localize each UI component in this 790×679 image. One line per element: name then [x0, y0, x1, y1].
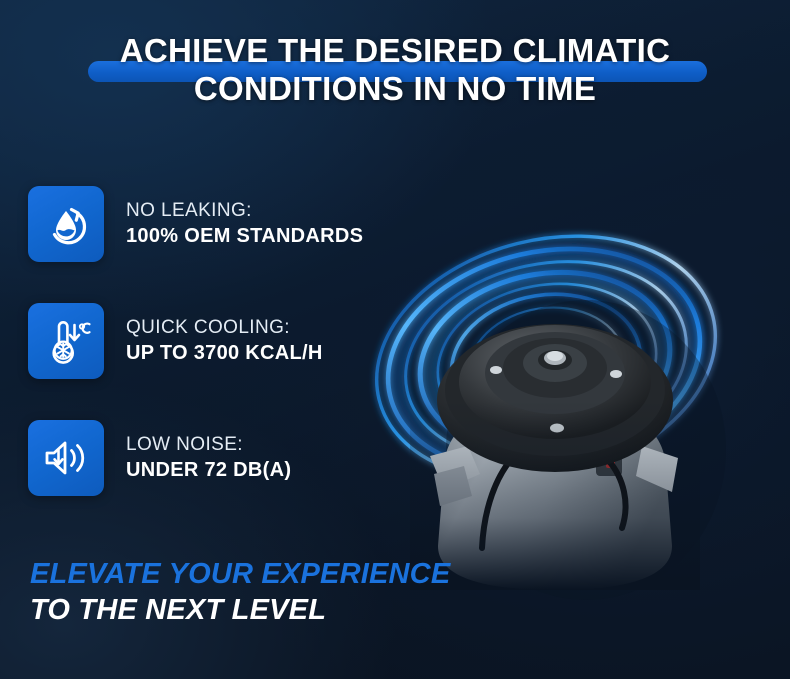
feature-value: 100% OEM STANDARDS — [126, 223, 363, 250]
feature-list: NO LEAKING: 100% OEM STANDARDS — [28, 186, 388, 496]
headline-line-1: ACHIEVE THE DESIRED CLIMATIC — [0, 32, 790, 70]
ac-compressor-illustration — [410, 260, 700, 590]
headline-line-2: CONDITIONS IN NO TIME — [0, 70, 790, 108]
feature-text-low-noise: LOW NOISE: UNDER 72 DB(A) — [126, 432, 291, 484]
feature-label: QUICK COOLING: — [126, 315, 323, 340]
tagline-line-1: ELEVATE YOUR EXPERIENCE — [30, 556, 450, 592]
tagline: ELEVATE YOUR EXPERIENCE TO THE NEXT LEVE… — [30, 556, 450, 628]
product-image — [350, 200, 750, 600]
feature-item-low-noise: LOW NOISE: UNDER 72 DB(A) — [28, 420, 388, 496]
feature-text-quick-cooling: QUICK COOLING: UP TO 3700 KCAL/H — [126, 315, 323, 367]
no-leak-water-drop-icon — [28, 186, 104, 262]
feature-label: LOW NOISE: — [126, 432, 291, 457]
promo-banner: ACHIEVE THE DESIRED CLIMATIC CONDITIONS … — [0, 0, 790, 679]
tagline-line-2: TO THE NEXT LEVEL — [30, 592, 450, 628]
headline: ACHIEVE THE DESIRED CLIMATIC CONDITIONS … — [0, 32, 790, 108]
feature-item-no-leaking: NO LEAKING: 100% OEM STANDARDS — [28, 186, 388, 262]
thermometer-snowflake-icon — [28, 303, 104, 379]
feature-item-quick-cooling: QUICK COOLING: UP TO 3700 KCAL/H — [28, 303, 388, 379]
feature-text-no-leaking: NO LEAKING: 100% OEM STANDARDS — [126, 198, 363, 250]
feature-value: UP TO 3700 KCAL/H — [126, 340, 323, 367]
feature-label: NO LEAKING: — [126, 198, 363, 223]
feature-value: UNDER 72 DB(A) — [126, 457, 291, 484]
speaker-low-volume-icon — [28, 420, 104, 496]
